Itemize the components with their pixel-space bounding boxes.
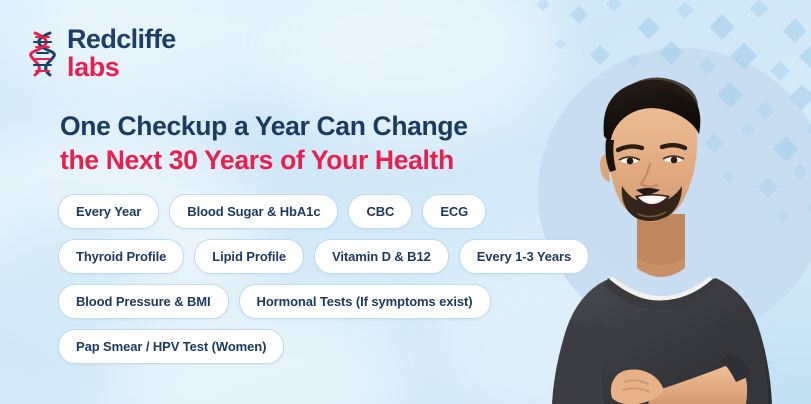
tag-blood-sugar-hba1c[interactable]: Blood Sugar & HbA1c (169, 194, 338, 229)
tag-blood-pressure-bmi[interactable]: Blood Pressure & BMI (58, 284, 229, 319)
person-photo (540, 62, 811, 404)
tag-hormonal-tests[interactable]: Hormonal Tests (If symptoms exist) (239, 284, 491, 319)
tag-every-year[interactable]: Every Year (58, 194, 159, 229)
health-checkup-banner: Redcliffe labs One Checkup a Year Can Ch… (0, 0, 811, 404)
redcliffe-labs-logo[interactable]: Redcliffe labs (28, 26, 176, 81)
tag-cbc[interactable]: CBC (348, 194, 412, 229)
tag-ecg[interactable]: ECG (422, 194, 486, 229)
logo-word-labs: labs (67, 54, 176, 81)
tag-thyroid-profile[interactable]: Thyroid Profile (58, 239, 184, 274)
dna-helix-icon (28, 30, 58, 78)
headline: One Checkup a Year Can Change the Next 3… (60, 110, 530, 178)
tag-vitamin-d-b12[interactable]: Vitamin D & B12 (314, 239, 449, 274)
headline-line-2: the Next 30 Years of Your Health (60, 144, 530, 178)
test-tag-list: Every Year Blood Sugar & HbA1c CBC ECG T… (58, 194, 558, 374)
tag-row-1: Every Year Blood Sugar & HbA1c CBC ECG (58, 194, 558, 229)
tag-row-2: Thyroid Profile Lipid Profile Vitamin D … (58, 239, 558, 274)
tag-lipid-profile[interactable]: Lipid Profile (194, 239, 304, 274)
headline-line-1: One Checkup a Year Can Change (60, 110, 530, 144)
logo-word-redcliffe: Redcliffe (67, 26, 176, 53)
logo-wordmark: Redcliffe labs (67, 26, 176, 81)
tag-row-3: Blood Pressure & BMI Hormonal Tests (If … (58, 284, 558, 319)
tag-row-4: Pap Smear / HPV Test (Women) (58, 329, 558, 364)
tag-pap-smear-hpv-test[interactable]: Pap Smear / HPV Test (Women) (58, 329, 284, 364)
